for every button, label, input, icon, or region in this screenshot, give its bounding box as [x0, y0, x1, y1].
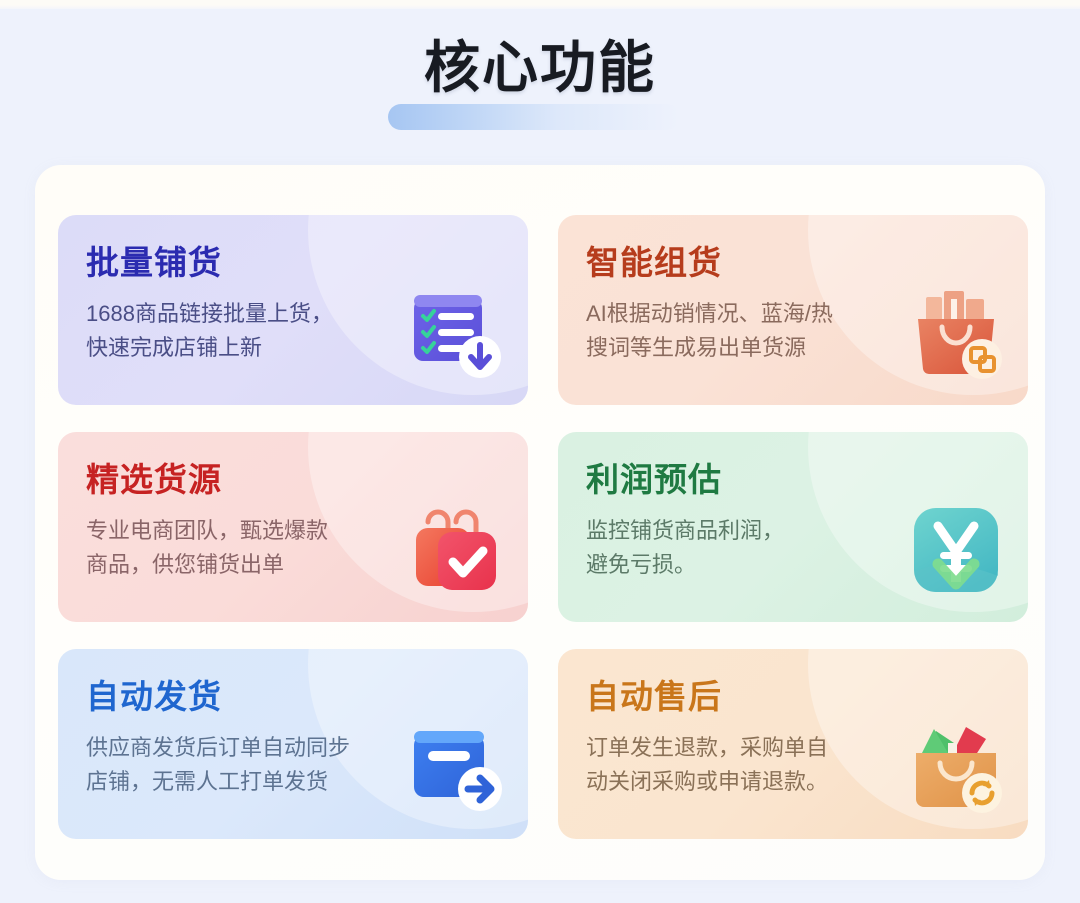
card-title: 自动售后 — [586, 679, 1000, 715]
card-title: 批量铺货 — [86, 245, 500, 281]
page-title: 核心功能 — [424, 36, 656, 100]
card-description: AI根据动销情况、蓝海/热 搜词等生成易出单货源 — [586, 297, 916, 365]
feature-card-curated-supply[interactable]: 精选货源 专业电商团队，甄选爆款 商品，供您铺货出单 — [58, 432, 528, 622]
yuan-down-arrow-icon — [908, 502, 1004, 598]
card-title: 自动发货 — [86, 679, 500, 715]
shopping-basket-boxes-icon — [908, 285, 1004, 381]
card-description: 供应商发货后订单自动同步 店铺，无需人工打单发货 — [86, 731, 416, 799]
shopping-bag-check-icon — [408, 502, 504, 598]
page-title-wrap: 核心功能 — [0, 36, 1080, 100]
feature-card-grid: 批量铺货 1688商品链接批量上货， 快速完成店铺上新 — [58, 215, 1028, 835]
title-underline-bar — [388, 104, 680, 130]
feature-card-auto-shipping[interactable]: 自动发货 供应商发货后订单自动同步 店铺，无需人工打单发货 — [58, 649, 528, 839]
card-title: 精选货源 — [86, 462, 500, 498]
card-description: 订单发生退款，采购单自 动关闭采购或申请退款。 — [586, 731, 916, 799]
card-description: 专业电商团队，甄选爆款 商品，供您铺货出单 — [86, 514, 416, 582]
card-description: 监控铺货商品利润， 避免亏损。 — [586, 514, 916, 582]
feature-card-auto-aftersales[interactable]: 自动售后 订单发生退款，采购单自 动关闭采购或申请退款。 — [558, 649, 1028, 839]
feature-card-profit-estimate[interactable]: 利润预估 监控铺货商品利润， 避免亏损。 — [558, 432, 1028, 622]
card-title: 利润预估 — [586, 462, 1000, 498]
card-forward-arrow-icon — [408, 719, 504, 815]
bag-refund-refresh-icon — [908, 719, 1004, 815]
section-header: 核心功能 — [0, 0, 1080, 165]
card-title: 智能组货 — [586, 245, 1000, 281]
feature-card-bulk-listing[interactable]: 批量铺货 1688商品链接批量上货， 快速完成店铺上新 — [58, 215, 528, 405]
card-description: 1688商品链接批量上货， 快速完成店铺上新 — [86, 297, 416, 365]
feature-card-smart-sourcing[interactable]: 智能组货 AI根据动销情况、蓝海/热 搜词等生成易出单货源 — [558, 215, 1028, 405]
checklist-download-icon — [408, 285, 504, 381]
